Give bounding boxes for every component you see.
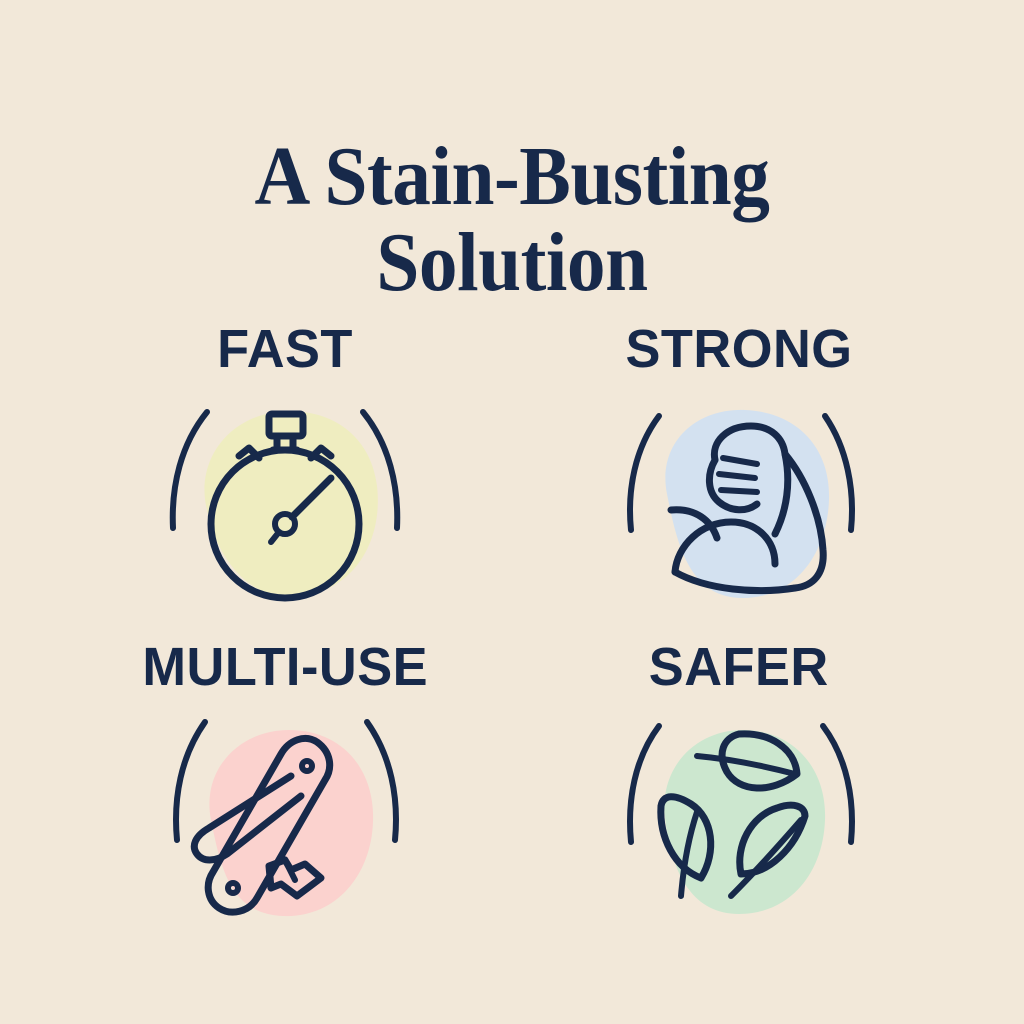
feature-card-safer[interactable]: SAFER bbox=[512, 640, 966, 958]
feature-card-fast[interactable]: FAST bbox=[58, 322, 512, 640]
feature-label-strong: STRONG bbox=[625, 322, 852, 376]
feature-label-fast: FAST bbox=[217, 322, 353, 376]
feature-label-safer: SAFER bbox=[649, 640, 829, 694]
poster-canvas: A Stain-Busting Solution FAST bbox=[0, 0, 1024, 1024]
feature-grid: FAST bbox=[58, 322, 966, 958]
three-leaves-icon bbox=[589, 700, 889, 940]
page-title: A Stain-Busting Solution bbox=[41, 134, 983, 305]
feature-card-strong[interactable]: STRONG bbox=[512, 322, 966, 640]
pocket-knife-icon bbox=[135, 700, 435, 940]
feature-label-multi-use: MULTI-USE bbox=[142, 640, 428, 694]
feature-card-multi-use[interactable]: MULTI-USE bbox=[58, 640, 512, 958]
flexed-bicep-icon bbox=[589, 382, 889, 622]
stopwatch-icon bbox=[135, 382, 435, 622]
